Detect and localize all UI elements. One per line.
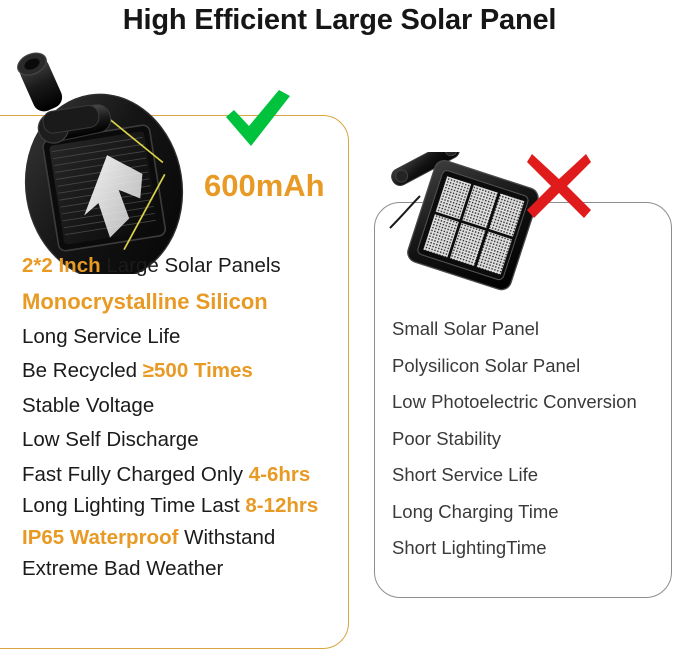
feature-highlight: 4-6hrs [249, 463, 311, 486]
feature-text: Large Solar Panels [101, 254, 281, 277]
feature-text: Extreme Bad Weather [22, 557, 223, 580]
feature-text: Long Service Life [22, 325, 180, 348]
list-item: Stable Voltage [22, 396, 352, 417]
feature-highlight: ≥500 Times [143, 359, 253, 382]
list-item: Poor Stability [392, 430, 667, 449]
good-feature-list: 2*2 Inch Large Solar Panels Monocrystall… [22, 256, 352, 594]
feature-text: Withstand [178, 526, 275, 549]
list-item: Short Service Life [392, 466, 667, 485]
feature-highlight: 8-12hrs [245, 494, 318, 517]
list-item: Monocrystalline Silicon [22, 291, 352, 313]
page-title: High Efficient Large Solar Panel [0, 4, 679, 37]
feature-text: Fast Fully Charged Only [22, 463, 249, 486]
list-item: Short LightingTime [392, 539, 667, 558]
list-item: 2*2 Inch Large Solar Panels [22, 256, 352, 277]
bad-feature-list: Small Solar Panel Polysilicon Solar Pane… [392, 320, 667, 576]
list-item: Low Self Discharge [22, 430, 352, 451]
feature-text: Stable Voltage [22, 394, 154, 417]
feature-text: Be Recycled [22, 359, 143, 382]
feature-text: Low Self Discharge [22, 428, 199, 451]
feature-highlight: 2*2 Inch [22, 254, 101, 277]
feature-text: Long Lighting Time Last [22, 494, 245, 517]
list-item: Long Charging Time [392, 503, 667, 522]
red-cross-icon [525, 152, 593, 220]
list-item: Long Lighting Time Last 8-12hrs [22, 496, 352, 517]
feature-highlight: IP65 Waterproof [22, 526, 178, 549]
green-check-icon [222, 88, 294, 150]
list-item: Be Recycled ≥500 Times [22, 361, 352, 382]
large-oval-solar-lamp-image [0, 52, 212, 274]
feature-highlight: Monocrystalline Silicon [22, 289, 268, 314]
list-item: Fast Fully Charged Only 4-6hrs [22, 465, 352, 486]
list-item: IP65 Waterproof Withstand [22, 528, 352, 549]
capacity-label: 600mAh [204, 168, 325, 204]
list-item: Small Solar Panel [392, 320, 667, 339]
list-item: Long Service Life [22, 327, 352, 348]
list-item: Low Photoelectric Conversion [392, 393, 667, 412]
list-item: Extreme Bad Weather [22, 559, 352, 580]
list-item: Polysilicon Solar Panel [392, 357, 667, 376]
